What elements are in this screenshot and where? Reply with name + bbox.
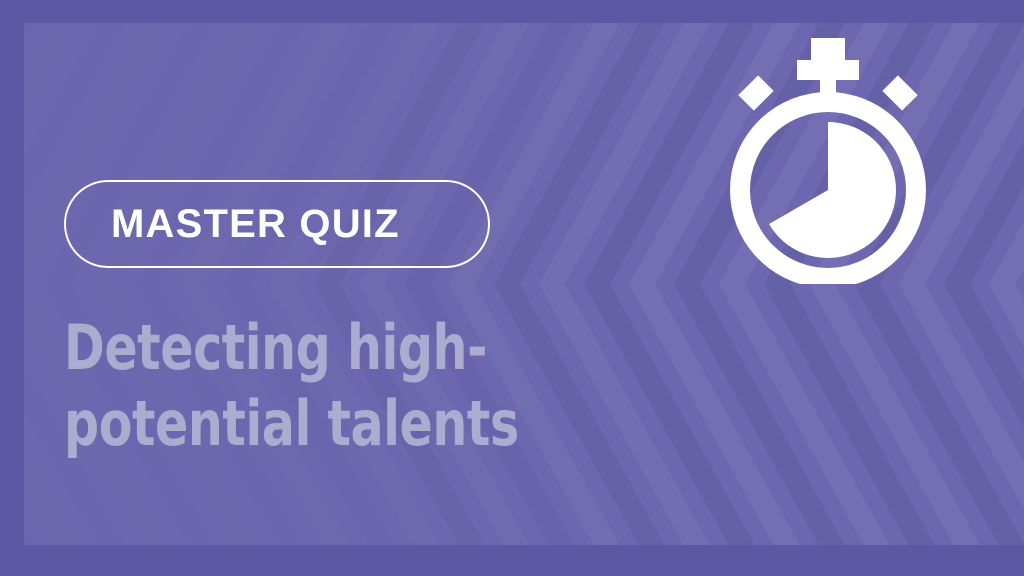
top-border-band — [0, 0, 1024, 23]
stopwatch-icon — [722, 38, 934, 284]
master-quiz-badge[interactable]: MASTER QUIZ — [64, 180, 490, 268]
left-border-band — [0, 0, 24, 576]
page-title: Detecting high-potential talents — [64, 310, 662, 461]
bottom-border-band — [0, 545, 1024, 576]
chevron-arm-lower — [899, 284, 1024, 545]
banner-canvas: MASTER QUIZ Detecting high-potential tal… — [0, 0, 1024, 576]
badge-label: MASTER QUIZ — [66, 204, 400, 244]
